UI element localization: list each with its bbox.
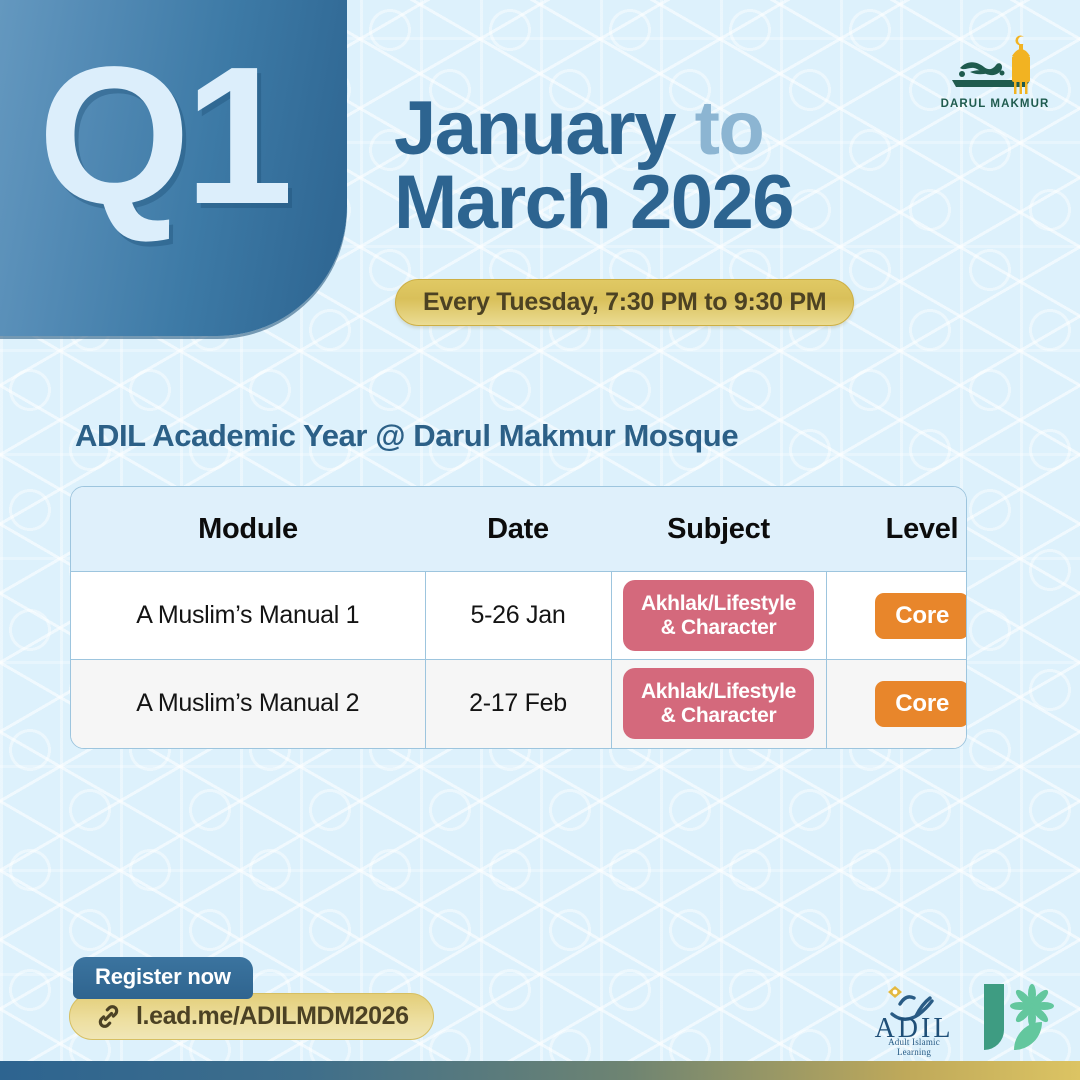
subject-badge: Akhlak/Lifestyle & Character bbox=[623, 668, 814, 739]
table-row: A Muslim’s Manual 2 2-17 Feb Akhlak/Life… bbox=[71, 660, 967, 748]
level-badge: Core bbox=[875, 681, 967, 727]
adil-tagline: Adult Islamic Learning bbox=[870, 1037, 958, 1057]
cell-date: 2-17 Feb bbox=[469, 689, 567, 717]
quarter-panel: Q1 bbox=[0, 0, 347, 336]
registration-link-text: l.ead.me/ADILMDM2026 bbox=[136, 1002, 409, 1031]
page-title: January to March 2026 bbox=[394, 92, 793, 241]
title-connector: to bbox=[695, 86, 764, 171]
adil-logo: ADIL Adult Islamic Learning bbox=[870, 980, 958, 1058]
column-header-subject: Subject bbox=[611, 487, 826, 571]
cell-date: 5-26 Jan bbox=[471, 601, 566, 629]
footer-gradient-bar bbox=[0, 1061, 1080, 1080]
darul-makmur-name: DARUL MAKMUR bbox=[940, 98, 1050, 110]
cell-module: A Muslim’s Manual 1 bbox=[136, 601, 359, 629]
table-row: A Muslim’s Manual 1 5-26 Jan Akhlak/Life… bbox=[71, 572, 967, 660]
level-badge: Core bbox=[875, 593, 967, 639]
subject-badge: Akhlak/Lifestyle & Character bbox=[623, 580, 814, 651]
register-now-badge: Register now bbox=[73, 957, 253, 999]
title-line-2: March 2026 bbox=[394, 166, 793, 240]
column-header-date: Date bbox=[425, 487, 611, 571]
darul-makmur-logo: DARUL MAKMUR bbox=[940, 28, 1050, 110]
column-header-level: Level bbox=[826, 487, 967, 571]
link-chain-icon bbox=[94, 1002, 123, 1031]
table-header: Module Date Subject Level bbox=[71, 487, 967, 572]
cell-module: A Muslim’s Manual 2 bbox=[136, 689, 359, 717]
schedule-table: Module Date Subject Level A Muslim’s Man… bbox=[70, 486, 967, 749]
gold-ornament-icon bbox=[888, 986, 902, 998]
table-body: A Muslim’s Manual 1 5-26 Jan Akhlak/Life… bbox=[71, 572, 967, 748]
quarter-label: Q1 bbox=[38, 38, 287, 234]
column-header-module: Module bbox=[71, 487, 425, 571]
schedule-pill: Every Tuesday, 7:30 PM to 9:30 PM bbox=[395, 279, 854, 326]
mosque-minaret-icon bbox=[940, 28, 1050, 98]
section-heading: ADIL Academic Year @ Darul Makmur Mosque bbox=[75, 418, 738, 454]
title-line-1: January to bbox=[394, 92, 793, 166]
green-leaf-flower-icon bbox=[976, 976, 1058, 1058]
title-month-from: January bbox=[394, 86, 675, 171]
poster-canvas: Q1 January to March 2026 Every Tuesday, … bbox=[0, 0, 1080, 1080]
registration-link-pill[interactable]: l.ead.me/ADILMDM2026 bbox=[69, 993, 434, 1040]
